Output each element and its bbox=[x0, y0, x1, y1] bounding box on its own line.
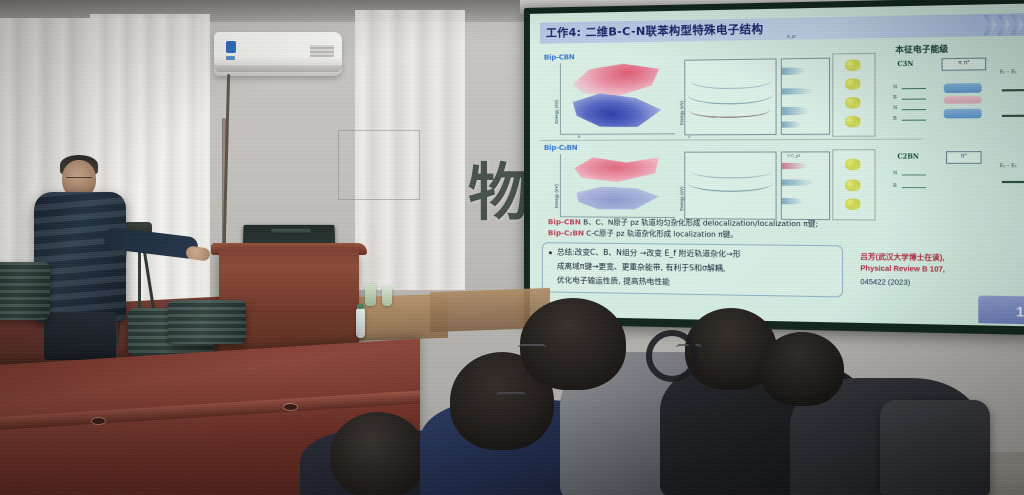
orbital-isosurface-panel-2 bbox=[832, 149, 875, 220]
surface-xticks-1: K bbox=[578, 134, 583, 139]
ac-indicator-icon bbox=[226, 56, 235, 60]
dos-peak bbox=[782, 107, 810, 115]
level-group-name-2: C2BN bbox=[897, 153, 918, 160]
ac-vent bbox=[214, 65, 342, 72]
dos-peak bbox=[782, 179, 814, 185]
orbital-box-1: π π* bbox=[942, 58, 987, 71]
projection-screen-frame: 工作4: 二维B-C-N联苯构型特殊电子结构 本征电子能级 Bip-CBN En… bbox=[524, 0, 1024, 335]
audience-member-head bbox=[760, 332, 844, 406]
level-group-name-1: C3N bbox=[897, 61, 913, 69]
citation-journal: Physical Review B 107, bbox=[860, 265, 945, 273]
body-line-2: Bip-C₂BN C-C原子 pz 轨道杂化形成 localization π键… bbox=[548, 228, 738, 240]
bullet-line-1: 总结:改变C、B、N组分 →改变 E_f 附近轨道杂化→形 bbox=[557, 246, 741, 259]
speaker-glasses-icon bbox=[66, 177, 92, 183]
wall-character-1: 物 bbox=[468, 142, 530, 232]
body-text-2: C-C原子 pz 轨道杂化形成 localization π键。 bbox=[586, 229, 737, 240]
body-tag-2: Bip-C₂BN bbox=[548, 228, 584, 237]
dos-peak bbox=[782, 121, 801, 127]
bullet-line-3: 优化电子输运性质, 提高热电性能 bbox=[557, 274, 670, 287]
ac-grill-icon bbox=[310, 45, 334, 57]
band-yaxis-label-1: Energy (eV) bbox=[679, 101, 684, 126]
energy-level-right bbox=[1002, 181, 1024, 183]
water-bottle bbox=[382, 286, 392, 306]
energy-level bbox=[902, 120, 926, 121]
energy-level bbox=[902, 109, 926, 110]
band-structure-plot-2 bbox=[684, 152, 776, 220]
bullet-point-icon bbox=[549, 251, 552, 254]
molecule-icon bbox=[845, 198, 860, 210]
energy-level bbox=[902, 88, 926, 89]
dos-legend-1: B_pz bbox=[787, 34, 796, 38]
molecule-icon bbox=[845, 97, 860, 109]
chair bbox=[0, 262, 50, 320]
surface-yaxis-label-1: Energy (eV) bbox=[554, 100, 559, 124]
citation-article: 045422 (2023) bbox=[860, 279, 910, 287]
slide-page-number: 16 bbox=[1016, 304, 1024, 320]
orbital-band-pink bbox=[944, 96, 982, 104]
orbital-band-blue bbox=[944, 109, 982, 119]
molecule-icon bbox=[845, 180, 860, 192]
body-text-1: B、C、N原子 pz 轨道均匀杂化形成 delocalization/local… bbox=[583, 217, 818, 228]
dos-peak bbox=[782, 88, 814, 95]
lecture-hall-photo: 物 学 院 工作4: 二维B-C-N联苯构型特殊电子结构 本征电子能级 Bip-… bbox=[0, 0, 1024, 495]
wall-access-panel bbox=[338, 130, 420, 200]
level-atom-label: B bbox=[893, 96, 897, 101]
bottle-cap-icon bbox=[357, 304, 364, 309]
citation-author: 吕芳(武汉大学博士在读), bbox=[860, 252, 944, 264]
energy-level bbox=[902, 187, 926, 188]
speaker-legs bbox=[44, 312, 116, 360]
molecule-icon bbox=[845, 116, 860, 128]
dos-plot-1 bbox=[781, 58, 830, 135]
chair-ribbing bbox=[0, 262, 50, 320]
molecule-icon bbox=[845, 159, 860, 171]
water-bottle bbox=[365, 284, 376, 306]
air-conditioner bbox=[214, 32, 342, 76]
section-heading: 本征电子能级 bbox=[895, 43, 948, 55]
band-curve-fermi bbox=[689, 94, 770, 118]
audience-glasses-icon bbox=[518, 344, 546, 353]
presentation-slide: 工作4: 二维B-C-N联苯构型特殊电子结构 本征电子能级 Bip-CBN En… bbox=[530, 3, 1024, 327]
level-atom-label: N bbox=[893, 106, 897, 111]
molecule-icon bbox=[845, 78, 860, 90]
monitor-bezel-strip bbox=[271, 229, 311, 233]
body-tag-1: Bip-CBN bbox=[548, 217, 581, 226]
surface-axes-1 bbox=[560, 62, 675, 135]
slide-divider bbox=[540, 139, 923, 141]
surface-axes-2 bbox=[560, 154, 675, 218]
energy-level-right bbox=[1002, 89, 1024, 91]
ac-display-icon bbox=[226, 41, 236, 53]
energy-level-right bbox=[1002, 115, 1024, 117]
audience-glasses-icon bbox=[496, 392, 526, 401]
orbital-band-blue bbox=[944, 83, 982, 93]
chair-ribbing bbox=[168, 300, 246, 344]
energy-level bbox=[902, 174, 926, 175]
molecule-icon bbox=[845, 59, 860, 71]
cable-grommet bbox=[284, 404, 297, 410]
orbital-box-2: π* bbox=[946, 151, 982, 164]
level-atom-label: B bbox=[893, 184, 897, 189]
projection-screen: 工作4: 二维B-C-N联苯构型特殊电子结构 本征电子能级 Bip-CBN En… bbox=[530, 3, 1024, 327]
dos-plot-2 bbox=[781, 151, 830, 220]
empty-chair bbox=[880, 400, 990, 495]
energy-level bbox=[902, 98, 926, 99]
level-atom-label: B bbox=[893, 117, 897, 122]
dos-peak bbox=[782, 163, 808, 169]
dos-peak bbox=[782, 67, 805, 75]
orbital-isosurface-panel-1 bbox=[832, 53, 875, 137]
panel-label-bip-c2bn: Bip-C₂BN bbox=[544, 144, 578, 152]
chair bbox=[168, 300, 246, 344]
dos-peak bbox=[782, 198, 803, 204]
audience-member-head bbox=[330, 412, 426, 495]
level-right-label-2: E₂ – E₁ bbox=[1000, 164, 1017, 169]
headphones-icon bbox=[646, 330, 698, 382]
band-curve-mid bbox=[687, 168, 774, 192]
level-right-label-1: E₂ – E₁ bbox=[1000, 70, 1017, 76]
level-atom-label: N bbox=[893, 85, 897, 90]
water-bottle bbox=[356, 308, 365, 338]
cable-grommet bbox=[92, 418, 105, 424]
dos-legend-2: C-C_pz bbox=[787, 154, 800, 158]
band-yaxis-label-2: Energy (eV) bbox=[679, 186, 684, 211]
level-atom-label: N bbox=[893, 171, 897, 176]
band-structure-plot-1 bbox=[684, 58, 776, 135]
surface-yaxis-label-2: Energy (eV) bbox=[554, 184, 559, 208]
